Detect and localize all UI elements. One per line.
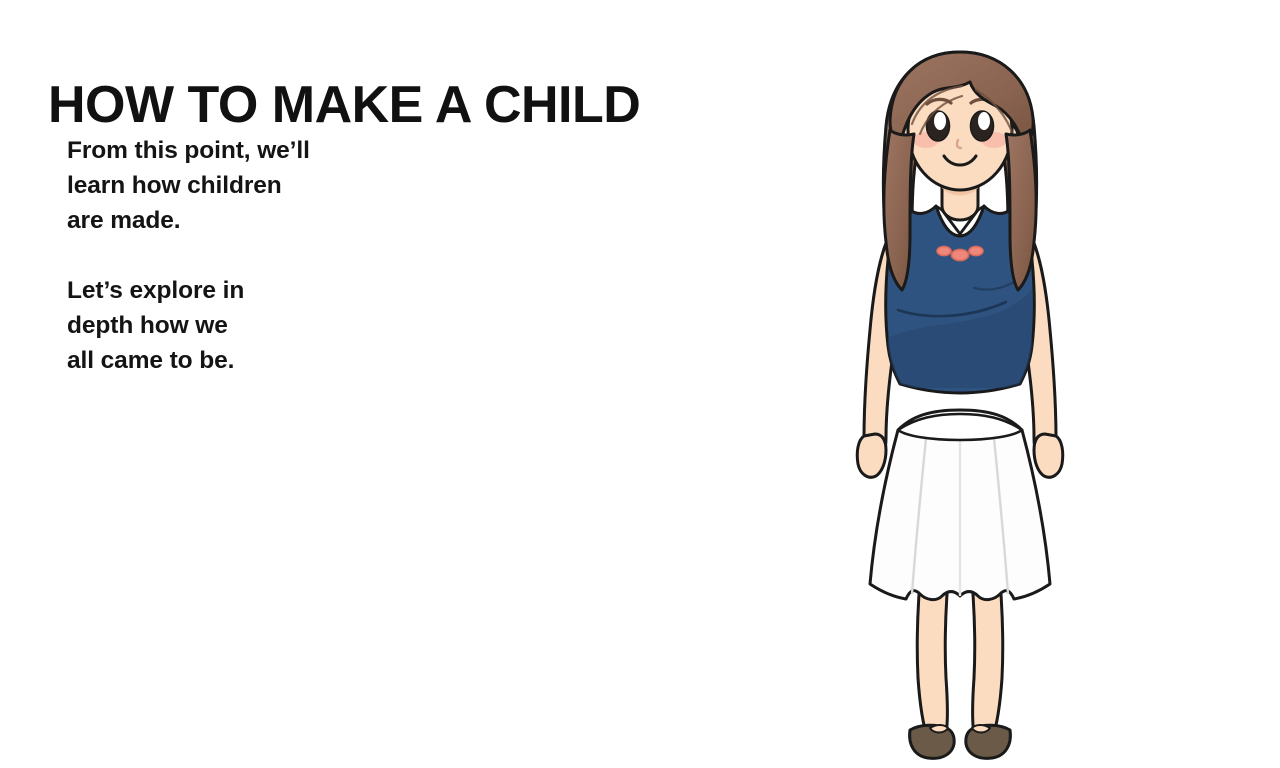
paragraph-1-line-2: learn how children [67,168,487,203]
paragraph-2-line-2: depth how we [67,308,487,343]
hand-left [857,434,886,477]
eye-highlight-right [978,112,990,130]
paragraph-1-line-3: are made. [67,203,487,238]
slide-body-text: From this point, we’ll learn how childre… [67,133,487,378]
brown-flat-shoes [910,725,1011,758]
page-title: HOW TO MAKE A CHILD [48,77,640,133]
bead-right [969,246,983,255]
paragraph-2-line-3: all came to be. [67,343,487,378]
white-skirt [870,410,1050,600]
eye-highlight-left [934,112,946,130]
bead-left [937,246,951,255]
standing-woman-illustration [824,38,1096,768]
paragraph-1-line-1: From this point, we’ll [67,133,487,168]
bead-center [952,249,969,260]
hand-right [1034,434,1063,477]
slide-canvas: HOW TO MAKE A CHILD From this point, we’… [0,0,1280,768]
character-svg [824,38,1096,768]
paragraph-1: From this point, we’ll learn how childre… [67,133,487,238]
paragraph-2-line-1: Let’s explore in [67,273,487,308]
paragraph-2: Let’s explore in depth how we all came t… [67,273,487,378]
